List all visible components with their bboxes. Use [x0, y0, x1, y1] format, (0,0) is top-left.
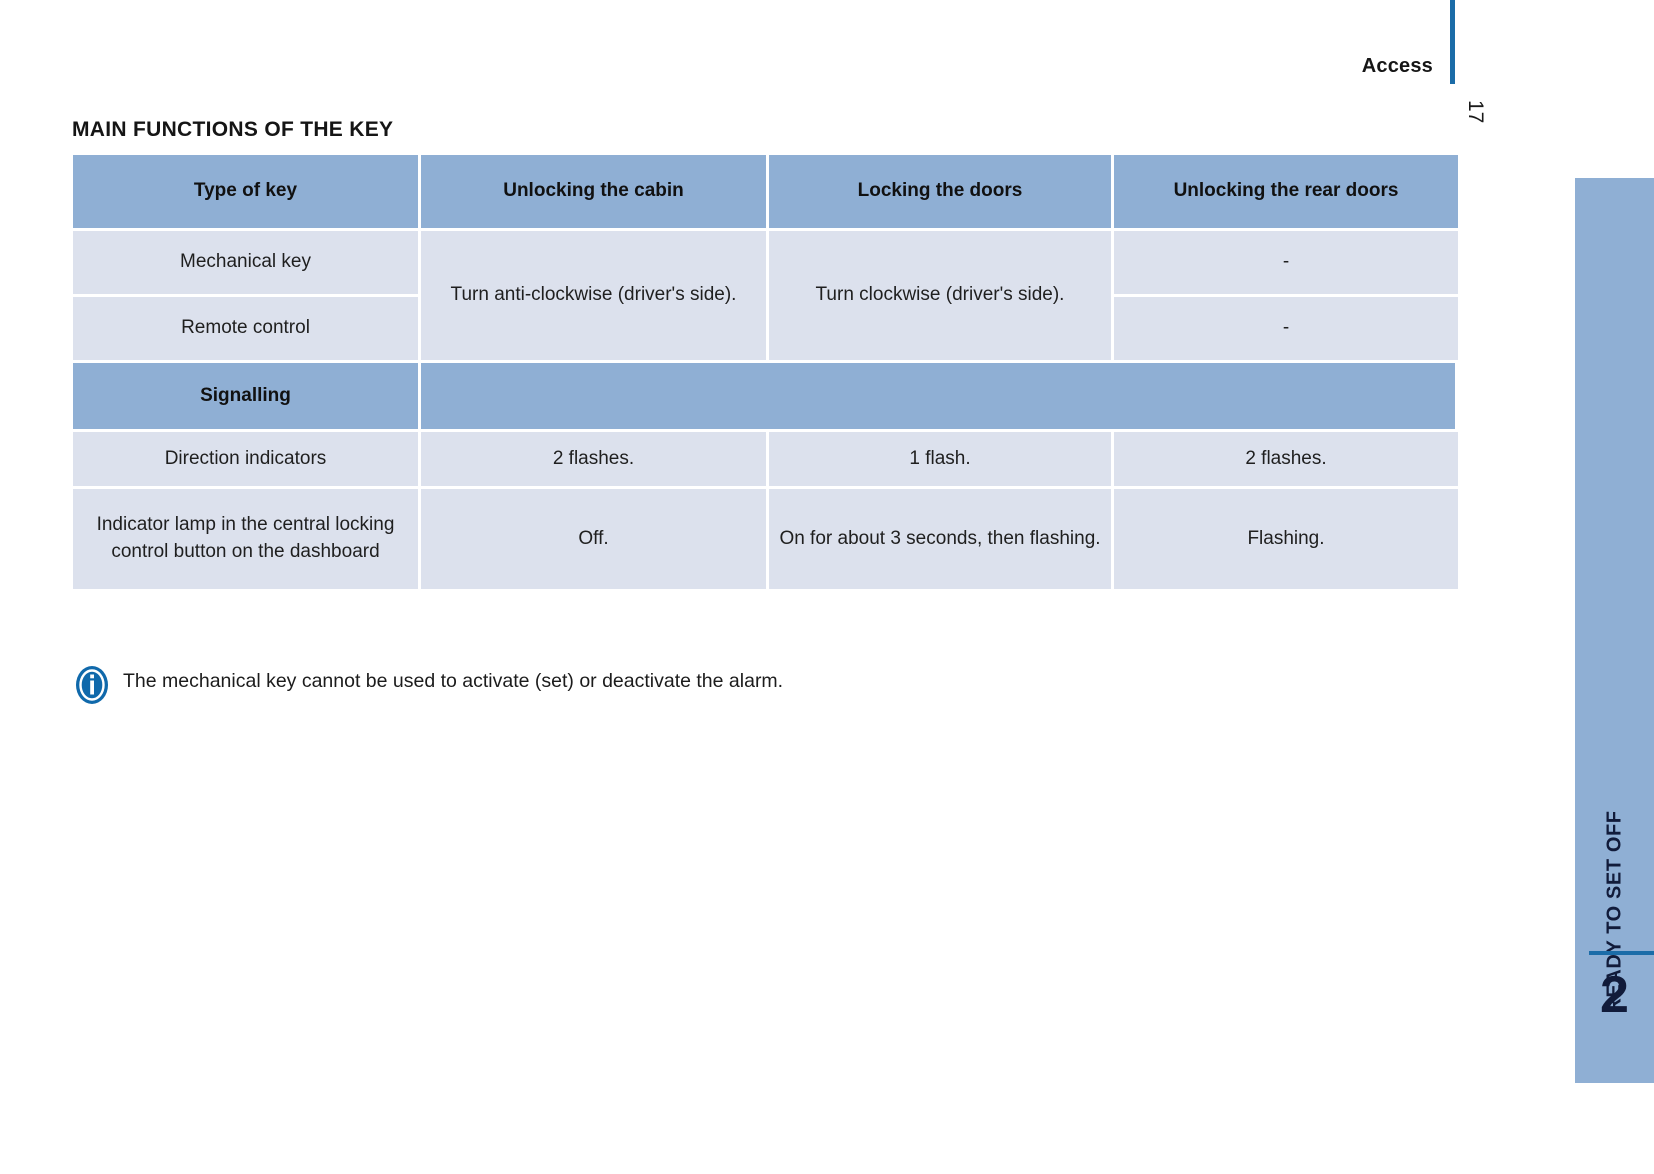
section-title: MAIN FUNCTIONS OF THE KEY	[72, 118, 393, 142]
info-note: The mechanical key cannot be used to act…	[75, 662, 783, 705]
cell-remote-control-rear-doors: -	[1114, 297, 1458, 360]
merged-cell-locking-the-doors: Turn clockwise (driver's side).	[769, 231, 1111, 360]
table-header-row: Type of key Unlocking the cabin Locking …	[73, 155, 1455, 228]
row-label-direction-indicators: Direction indicators	[73, 432, 418, 486]
page-number: 17	[1463, 100, 1487, 123]
signalling-header-row: Signalling	[73, 363, 1455, 429]
main-functions-table: Type of key Unlocking the cabin Locking …	[73, 155, 1455, 592]
info-note-text: The mechanical key cannot be used to act…	[123, 662, 783, 694]
merged-cell-unlocking-the-cabin: Turn anti-clockwise (driver's side).	[421, 231, 766, 360]
cell-mechanical-key-rear-doors: -	[1114, 231, 1458, 294]
table-row-remote-control: Remote control	[73, 297, 418, 360]
table-row-direction-indicators: Direction indicators 2 flashes. 1 flash.…	[73, 432, 1455, 486]
column-header-locking-the-doors: Locking the doors	[769, 155, 1111, 228]
chapter-tab[interactable]: READY TO SET OFF 2	[1575, 178, 1654, 1083]
key-rows-group: Mechanical key Remote control Turn anti-…	[73, 231, 1455, 360]
page-header: Access	[0, 55, 1455, 95]
type-of-key-cells: Mechanical key Remote control	[73, 231, 418, 360]
column-header-unlocking-the-rear-doors: Unlocking the rear doors	[1114, 155, 1458, 228]
signalling-header-label: Signalling	[73, 363, 418, 429]
info-icon	[75, 665, 109, 705]
cell-indicator-lamp-rear-doors: Flashing.	[1114, 489, 1458, 589]
column-header-unlocking-the-cabin: Unlocking the cabin	[421, 155, 766, 228]
signalling-header-spacer	[421, 363, 1455, 429]
cell-direction-indicators-rear-doors: 2 flashes.	[1114, 432, 1458, 486]
chapter-tab-number: 2	[1575, 969, 1654, 1021]
table-row-mechanical-key: Mechanical key	[73, 231, 418, 294]
rear-doors-cells: - -	[1114, 231, 1458, 360]
column-header-type-of-key: Type of key	[73, 155, 418, 228]
chapter-tab-divider	[1589, 951, 1654, 955]
cell-indicator-lamp-unlocking-cabin: Off.	[421, 489, 766, 589]
page-header-title: Access	[1362, 55, 1433, 78]
header-accent-rule	[1450, 0, 1455, 84]
cell-direction-indicators-unlocking-cabin: 2 flashes.	[421, 432, 766, 486]
cell-direction-indicators-locking-doors: 1 flash.	[769, 432, 1111, 486]
row-label-indicator-lamp: Indicator lamp in the central locking co…	[73, 489, 418, 589]
table-row-indicator-lamp: Indicator lamp in the central locking co…	[73, 489, 1455, 589]
cell-indicator-lamp-locking-doors: On for about 3 seconds, then flashing.	[769, 489, 1111, 589]
